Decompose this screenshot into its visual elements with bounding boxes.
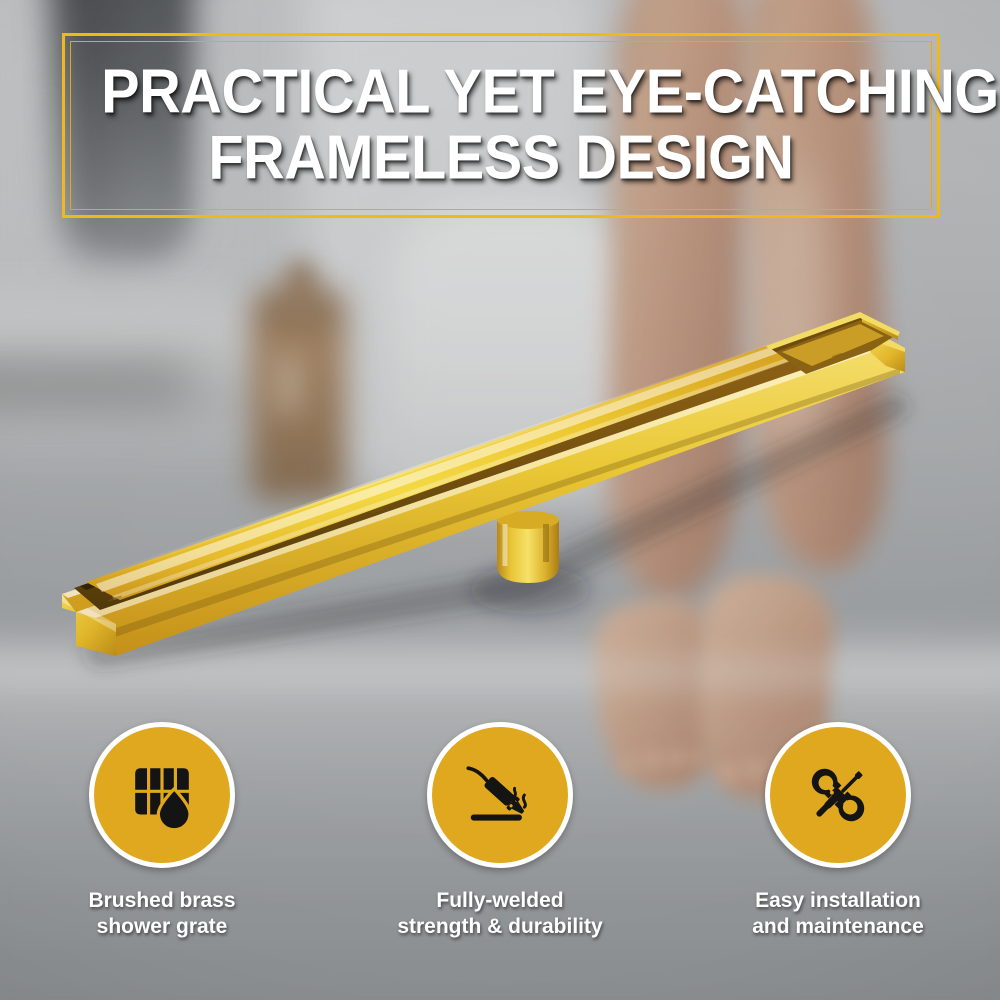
- feature-item-easy-installation-maintenance: Easy installation and maintenance: [718, 722, 958, 939]
- drain-grate-droplet-icon: [123, 756, 201, 834]
- feature-badge-2: [427, 722, 573, 868]
- headline-line-2: FRAMELESS DESIGN: [101, 129, 901, 190]
- headline-text-block: PRACTICAL YET EYE-CATCHING FRAMELESS DES…: [65, 62, 937, 190]
- feature-caption-3: Easy installation and maintenance: [752, 888, 924, 939]
- feature-caption-2: Fully-welded strength & durability: [397, 888, 602, 939]
- feature-item-fully-welded-strength-durability: Fully-welded strength & durability: [380, 722, 620, 939]
- welding-torch-icon: [461, 756, 539, 834]
- feature-badge-3: [765, 722, 911, 868]
- feature-badge-1: [89, 722, 235, 868]
- feature-list: Brushed brass shower grate: [0, 722, 1000, 939]
- product-marketing-poster: PRACTICAL YET EYE-CATCHING FRAMELESS DES…: [0, 0, 1000, 1000]
- headline-frame: PRACTICAL YET EYE-CATCHING FRAMELESS DES…: [62, 33, 940, 218]
- feature-item-brushed-brass-shower-grate: Brushed brass shower grate: [42, 722, 282, 939]
- feature-caption-1: Brushed brass shower grate: [88, 888, 235, 939]
- wrench-screwdriver-icon: [799, 756, 877, 834]
- headline-line-1: PRACTICAL YET EYE-CATCHING: [101, 62, 901, 123]
